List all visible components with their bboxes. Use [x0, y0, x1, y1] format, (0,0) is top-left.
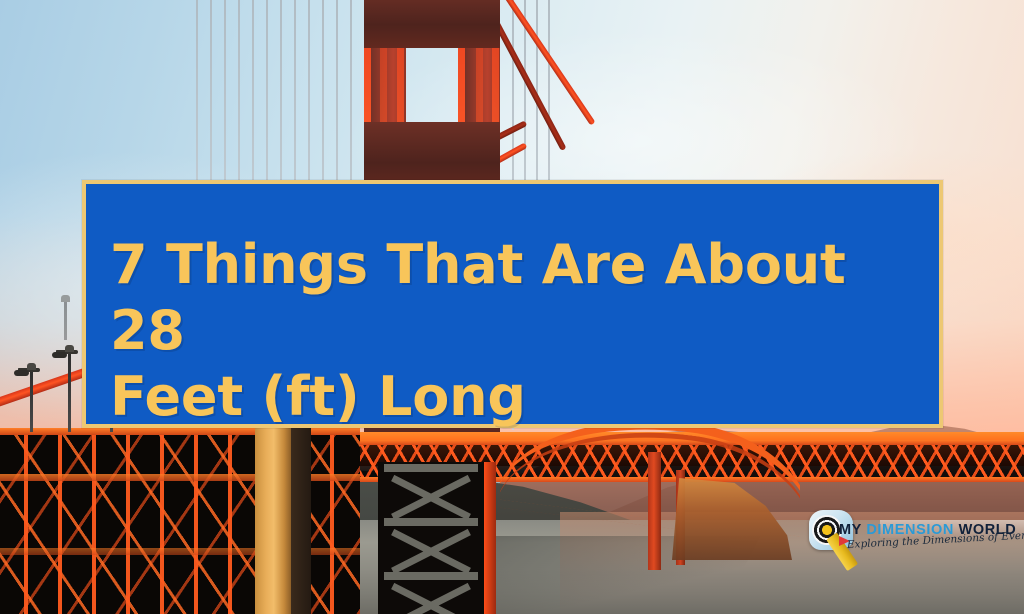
pier-shadow-face — [291, 428, 311, 614]
headline-line-2: Feet (ft) Long — [110, 364, 921, 430]
right-pylon-1 — [648, 452, 661, 570]
tower-strut-top — [364, 0, 500, 48]
headline-line-1: 7 Things That Are About 28 — [110, 233, 846, 362]
lamp-post-4 — [58, 300, 80, 340]
concrete-pier — [255, 428, 291, 614]
title-banner-content: 7 Things That Are About 28 Feet (ft) Lon… — [110, 232, 921, 430]
lamp-post-1 — [24, 368, 46, 432]
title-banner: 7 Things That Are About 28 Feet (ft) Lon… — [82, 180, 943, 428]
tower-base-silhouette — [378, 462, 484, 614]
lamp-post-2 — [62, 350, 84, 432]
site-logo[interactable]: MY DIMENSION WORLD Exploring the Dimensi… — [803, 506, 983, 568]
page-title: 7 Things That Are About 28 Feet (ft) Lon… — [110, 232, 921, 430]
screenshot-root: 7 Things That Are About 28 Feet (ft) Lon… — [0, 0, 1024, 614]
logo-word-my: MY — [839, 522, 862, 538]
